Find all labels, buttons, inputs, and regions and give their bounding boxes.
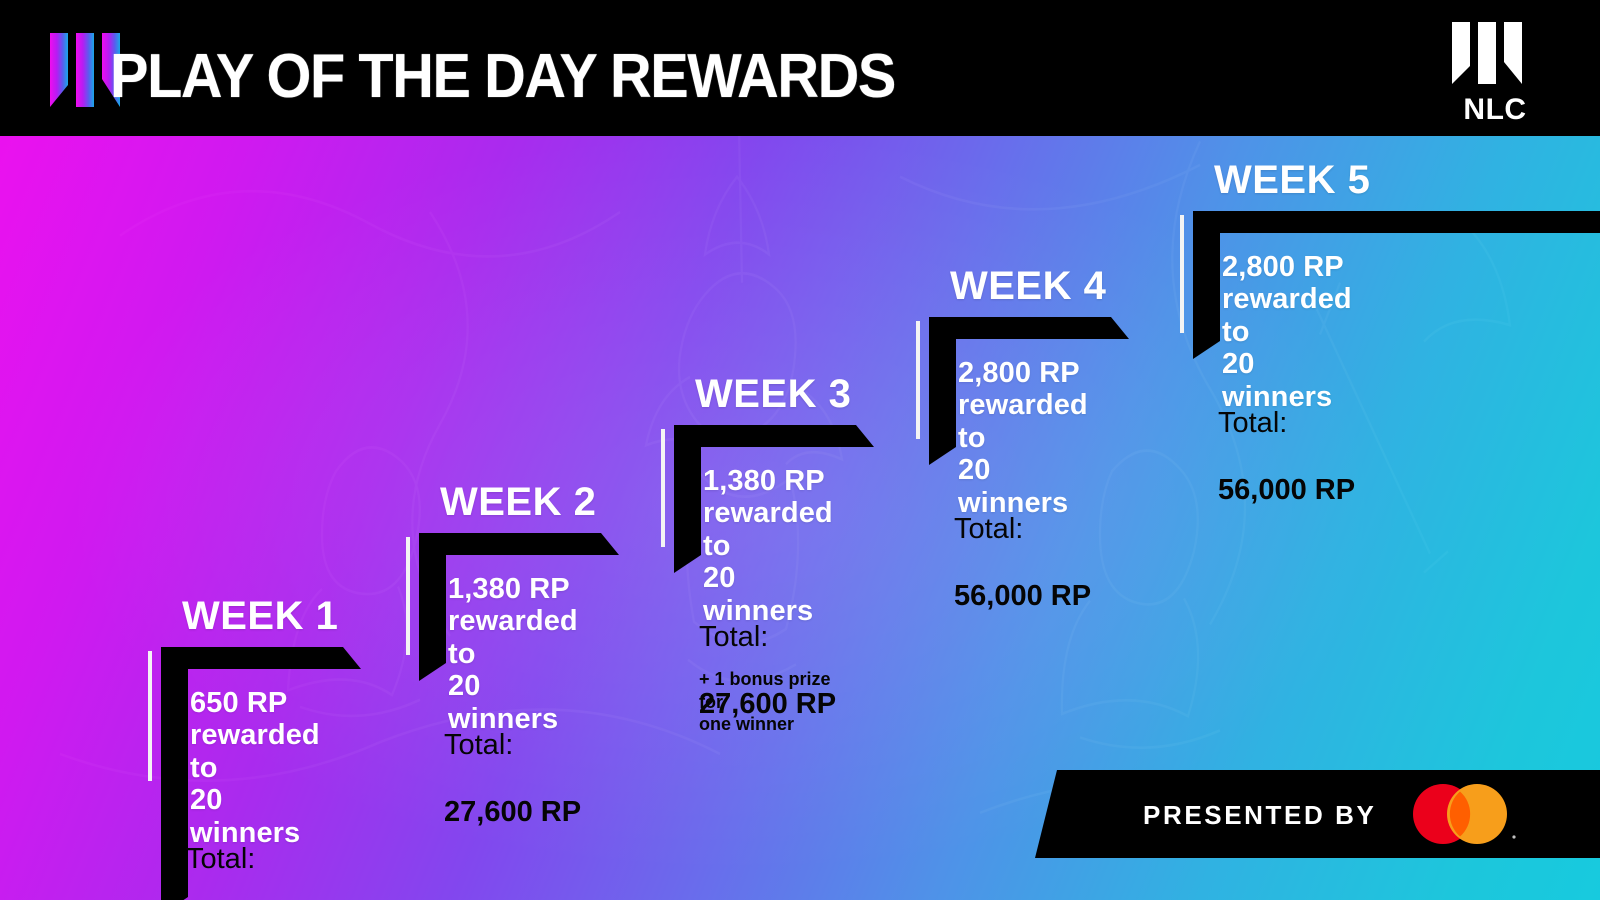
page-title: PLAY OF THE DAY REWARDS <box>110 46 895 108</box>
week-4-tick-line <box>916 321 920 439</box>
week-block-1: WEEK 1 650 RP rewarded to 20 winners Tot… <box>148 596 338 647</box>
week-1-tick-line <box>148 651 152 781</box>
mastercard-logo-icon <box>1395 782 1523 846</box>
week-4-total: Total: 56,000 RP <box>954 480 1091 613</box>
week-5-total-label: Total: <box>1218 407 1287 439</box>
week-1-total-label: Total: <box>186 843 255 875</box>
nlc-brand-logo: NLC <box>1452 22 1538 120</box>
week-3-tick-line <box>661 429 665 547</box>
sponsor-footer: PRESENTED BY <box>1035 770 1600 858</box>
week-4-total-label: Total: <box>954 513 1023 545</box>
week-block-2: WEEK 2 1,380 RP rewarded to 20 winners T… <box>406 482 596 533</box>
week-4-title: WEEK 4 <box>950 266 1106 306</box>
week-5-title: WEEK 5 <box>1214 160 1370 200</box>
header-bar: PLAY OF THE DAY REWARDS NLC <box>0 0 1600 136</box>
week-block-3: WEEK 3 1,380 RP rewarded to 20 winners T… <box>661 374 851 425</box>
presented-by-label: PRESENTED BY <box>1143 800 1376 831</box>
week-3-title: WEEK 3 <box>695 374 851 414</box>
week-5-total-value: 56,000 RP <box>1218 474 1355 506</box>
week-4-total-value: 56,000 RP <box>954 580 1091 612</box>
infographic-stage: WEEK 1 650 RP rewarded to 20 winners Tot… <box>0 0 1600 900</box>
week-2-tick-line <box>406 537 410 655</box>
week-2-total-value: 27,600 RP <box>444 796 581 828</box>
week-3-bonus-note: + 1 bonus prize for one winner <box>699 668 851 736</box>
week-2-total-label: Total: <box>444 729 513 761</box>
week-5-tick-line <box>1180 215 1184 333</box>
week-1-total: Total: 13,000 RP <box>186 810 323 900</box>
week-block-5: WEEK 5 2,800 RP rewarded to 20 winners T… <box>1180 160 1370 211</box>
week-2-title: WEEK 2 <box>440 482 596 522</box>
week-5-total: Total: 56,000 RP <box>1218 374 1355 507</box>
week-block-4: WEEK 4 2,800 RP rewarded to 20 winners T… <box>916 266 1106 317</box>
week-1-title: WEEK 1 <box>182 596 338 636</box>
nlc-bars-icon <box>1452 22 1522 84</box>
week-2-total: Total: 27,600 RP <box>444 696 581 829</box>
nlc-wordmark: NLC <box>1452 95 1538 125</box>
week-3-total-label: Total: <box>699 621 768 653</box>
